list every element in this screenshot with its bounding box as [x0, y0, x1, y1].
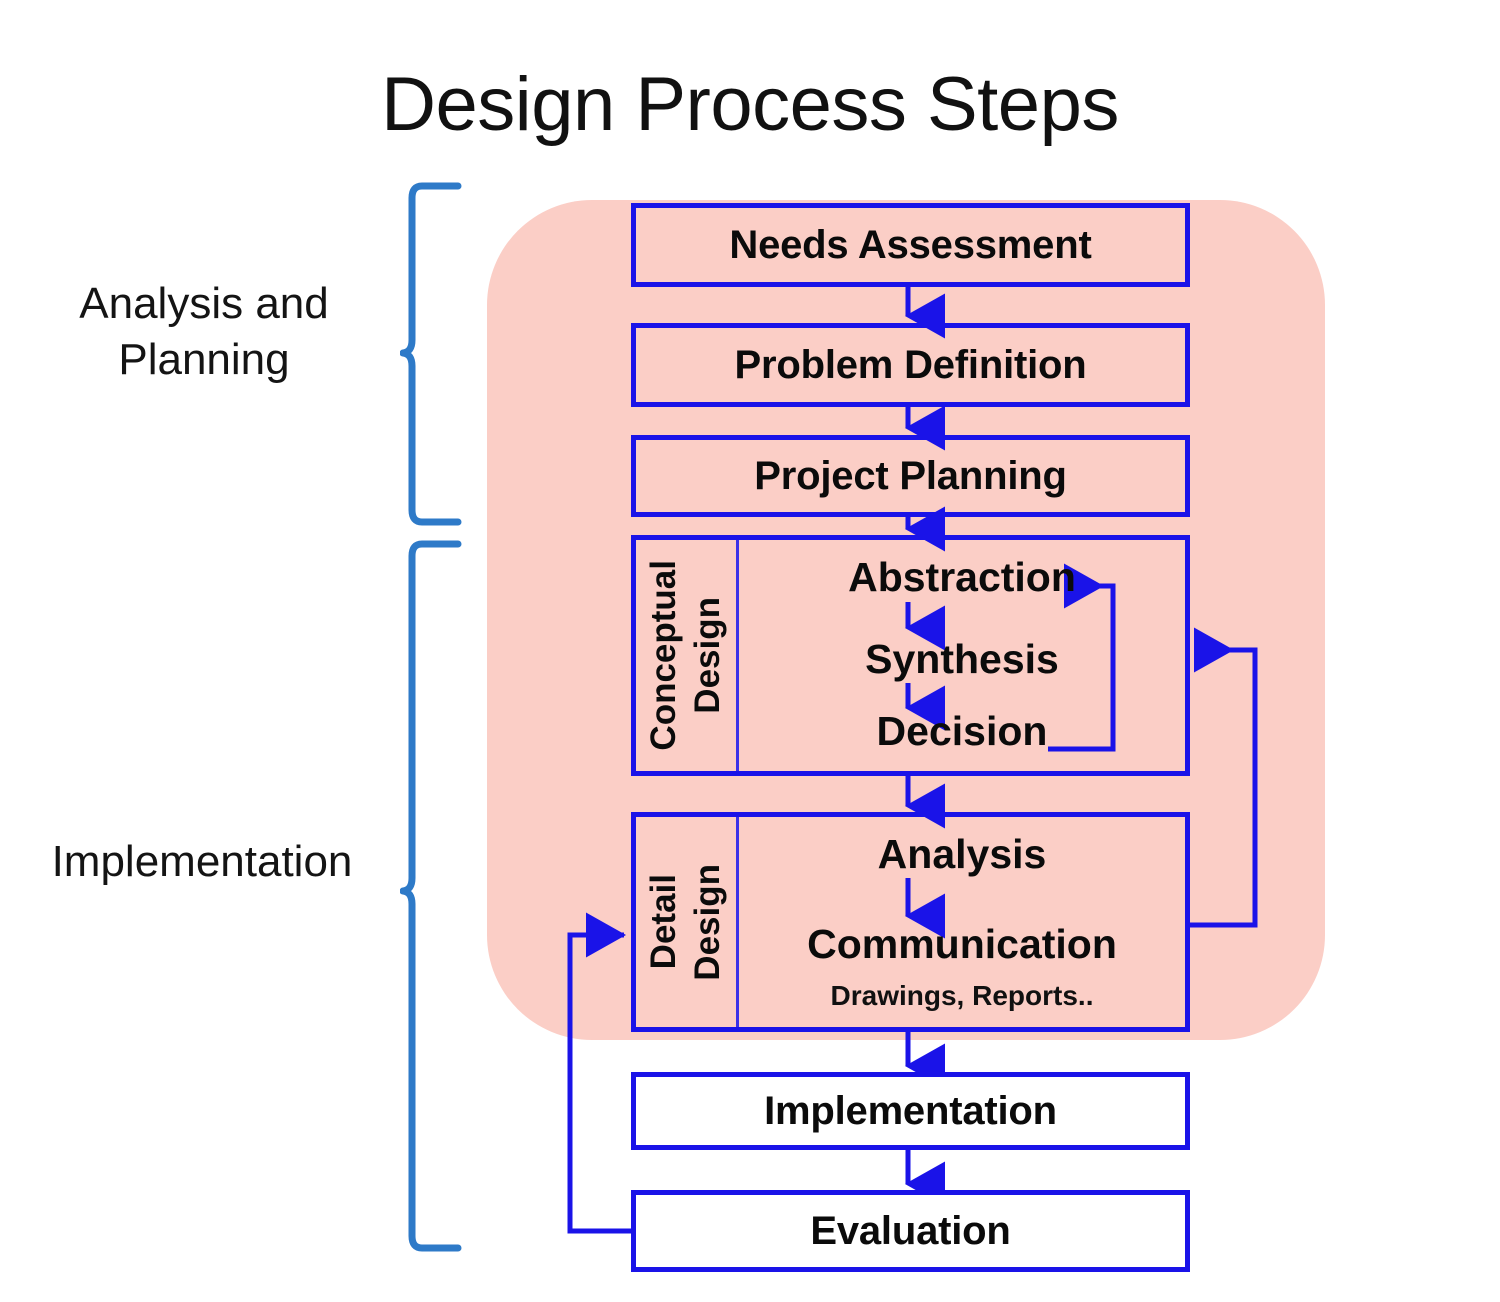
- conceptual-design-rail-line1: Conceptual: [644, 560, 684, 751]
- step-abstraction: Abstraction: [739, 554, 1185, 601]
- brace-analysis-planning: [400, 180, 472, 528]
- step-communication: Communication: [739, 921, 1185, 968]
- page-title: Design Process Steps: [0, 62, 1500, 148]
- box-conceptual-design[interactable]: Conceptual Design Abstraction Synthesis …: [631, 535, 1190, 776]
- box-implementation-label: Implementation: [764, 1089, 1057, 1134]
- box-evaluation-label: Evaluation: [810, 1209, 1010, 1254]
- box-project-planning[interactable]: Project Planning: [631, 435, 1190, 517]
- conceptual-design-rail: Conceptual Design: [636, 540, 739, 771]
- brace-implementation: [400, 538, 472, 1254]
- group-label-implementation: Implementation: [0, 834, 404, 890]
- detail-design-rail-line2: Design: [688, 864, 728, 981]
- box-needs-assessment-label: Needs Assessment: [729, 223, 1091, 268]
- detail-design-rail-line1: Detail: [644, 874, 684, 969]
- box-project-planning-label: Project Planning: [754, 454, 1066, 499]
- box-problem-definition-label: Problem Definition: [735, 343, 1087, 388]
- step-communication-subtitle: Drawings, Reports..: [739, 980, 1185, 1012]
- detail-design-body: Analysis Communication Drawings, Reports…: [739, 817, 1185, 1027]
- detail-design-rail: Detail Design: [636, 817, 739, 1027]
- box-evaluation[interactable]: Evaluation: [631, 1190, 1190, 1272]
- step-synthesis: Synthesis: [739, 636, 1185, 683]
- conceptual-design-rail-line2: Design: [688, 597, 728, 714]
- box-needs-assessment[interactable]: Needs Assessment: [631, 203, 1190, 287]
- step-decision: Decision: [739, 708, 1185, 755]
- group-label-analysis-planning: Analysis and Planning: [10, 276, 398, 388]
- diagram-canvas: Design Process Steps Analysis and Planni…: [0, 0, 1500, 1302]
- box-detail-design[interactable]: Detail Design Analysis Communication Dra…: [631, 812, 1190, 1032]
- box-problem-definition[interactable]: Problem Definition: [631, 323, 1190, 407]
- box-implementation[interactable]: Implementation: [631, 1072, 1190, 1150]
- conceptual-design-body: Abstraction Synthesis Decision: [739, 540, 1185, 771]
- step-analysis: Analysis: [739, 831, 1185, 878]
